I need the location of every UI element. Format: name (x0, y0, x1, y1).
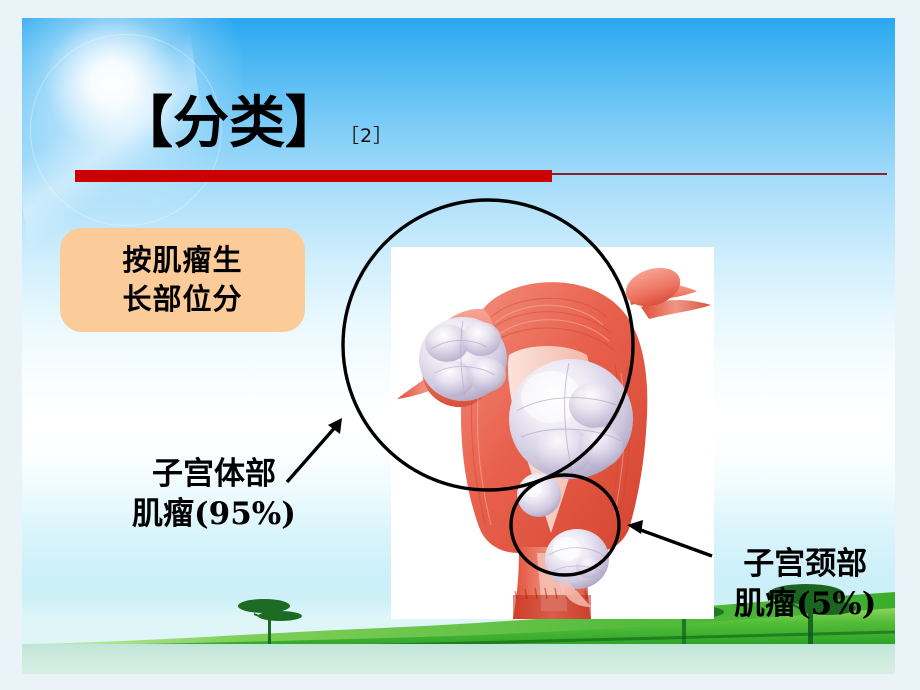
uterus-illustration-svg (391, 247, 714, 619)
fibroid-subserosal-cluster (419, 317, 507, 401)
cervical-fibroid-label-line1: 子宫颈部 (743, 546, 867, 582)
callout-line-2: 长部位分 (122, 280, 242, 319)
page-title: 【分类】 (117, 96, 341, 152)
slide-canvas: 【分类】 ［2］ 按肌瘤生 长部位分 (22, 18, 895, 674)
corpus-fibroid-label-line1: 子宫体部 (152, 456, 276, 492)
slide: 【分类】 ［2］ 按肌瘤生 长部位分 (0, 0, 920, 690)
fibroid-small-nodule (517, 473, 561, 517)
corpus-fibroid-label: 子宫体部 肌瘤(95%) (132, 455, 296, 534)
uterus-fibroid-figure (391, 247, 714, 619)
fibroid-intramural-mass (509, 359, 633, 479)
water-reflection (22, 644, 895, 674)
title-reference-mark: ［2］ (340, 121, 393, 148)
corpus-fibroid-label-line2: 肌瘤(95%) (132, 495, 296, 535)
cervical-fibroid-label: 子宫颈部 肌瘤(5%) (734, 545, 876, 624)
title-rule-thick (75, 170, 552, 182)
callout-line-1: 按肌瘤生 (122, 241, 242, 280)
title-rule-thin (552, 173, 887, 175)
slide-frame-left (0, 0, 22, 690)
classification-callout-box: 按肌瘤生 长部位分 (60, 228, 305, 332)
cervical-fibroid-label-line2: 肌瘤(5%) (734, 585, 876, 625)
